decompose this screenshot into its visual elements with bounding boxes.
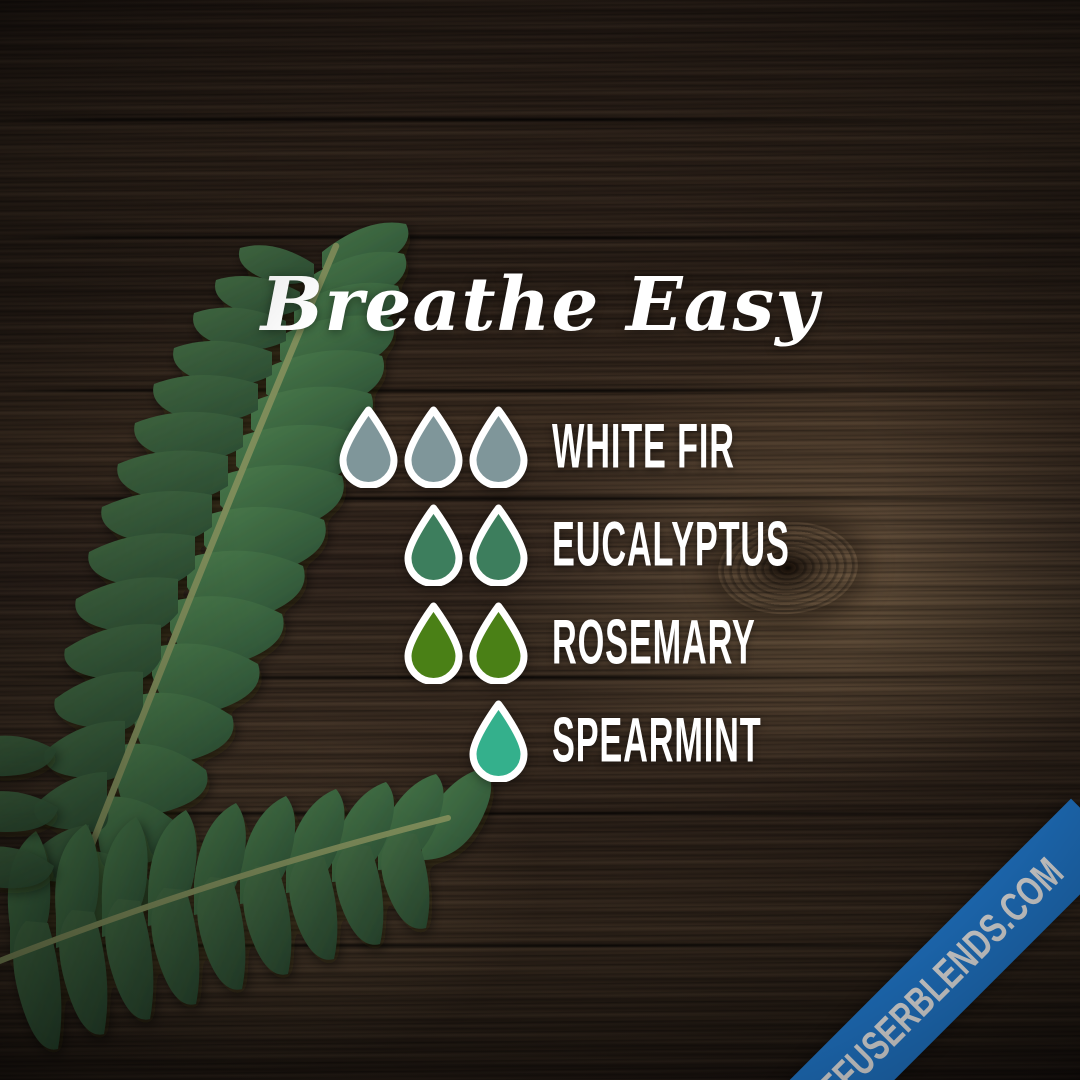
- oil-drop-icon: [402, 602, 465, 684]
- plank-seam: [0, 236, 1080, 239]
- oil-label-spearmint: SPEARMINT: [552, 710, 762, 773]
- blend-row: SPEARMINT: [0, 692, 1080, 790]
- blend-recipe-list: WHITE FIR EUCALYPTUS R: [0, 398, 1080, 790]
- drop-group-white-fir: [0, 406, 530, 488]
- oil-drop-icon: [467, 700, 530, 782]
- blend-row: EUCALYPTUS: [0, 496, 1080, 594]
- oil-drop-icon: [402, 504, 465, 586]
- oil-label-eucalyptus: EUCALYPTUS: [552, 514, 790, 577]
- oil-label-white-fir: WHITE FIR: [552, 416, 735, 479]
- blend-row: ROSEMARY: [0, 594, 1080, 692]
- plank-seam: [0, 118, 1080, 121]
- drop-group-rosemary: [0, 602, 530, 684]
- page-title: Breathe Easy: [0, 268, 1080, 342]
- oil-drop-icon: [467, 504, 530, 586]
- oil-drop-icon: [337, 406, 400, 488]
- oil-label-rosemary: ROSEMARY: [552, 612, 756, 675]
- plank-seam: [0, 944, 1080, 947]
- oil-drop-icon: [467, 602, 530, 684]
- plank-seam: [0, 389, 1080, 392]
- diffuser-blend-card: Breathe Easy WHITE FIR: [0, 0, 1080, 1080]
- blend-row: WHITE FIR: [0, 398, 1080, 496]
- drop-group-eucalyptus: [0, 504, 530, 586]
- plank-seam: [0, 812, 1080, 815]
- oil-drop-icon: [467, 406, 530, 488]
- oil-drop-icon: [402, 406, 465, 488]
- drop-group-spearmint: [0, 700, 530, 782]
